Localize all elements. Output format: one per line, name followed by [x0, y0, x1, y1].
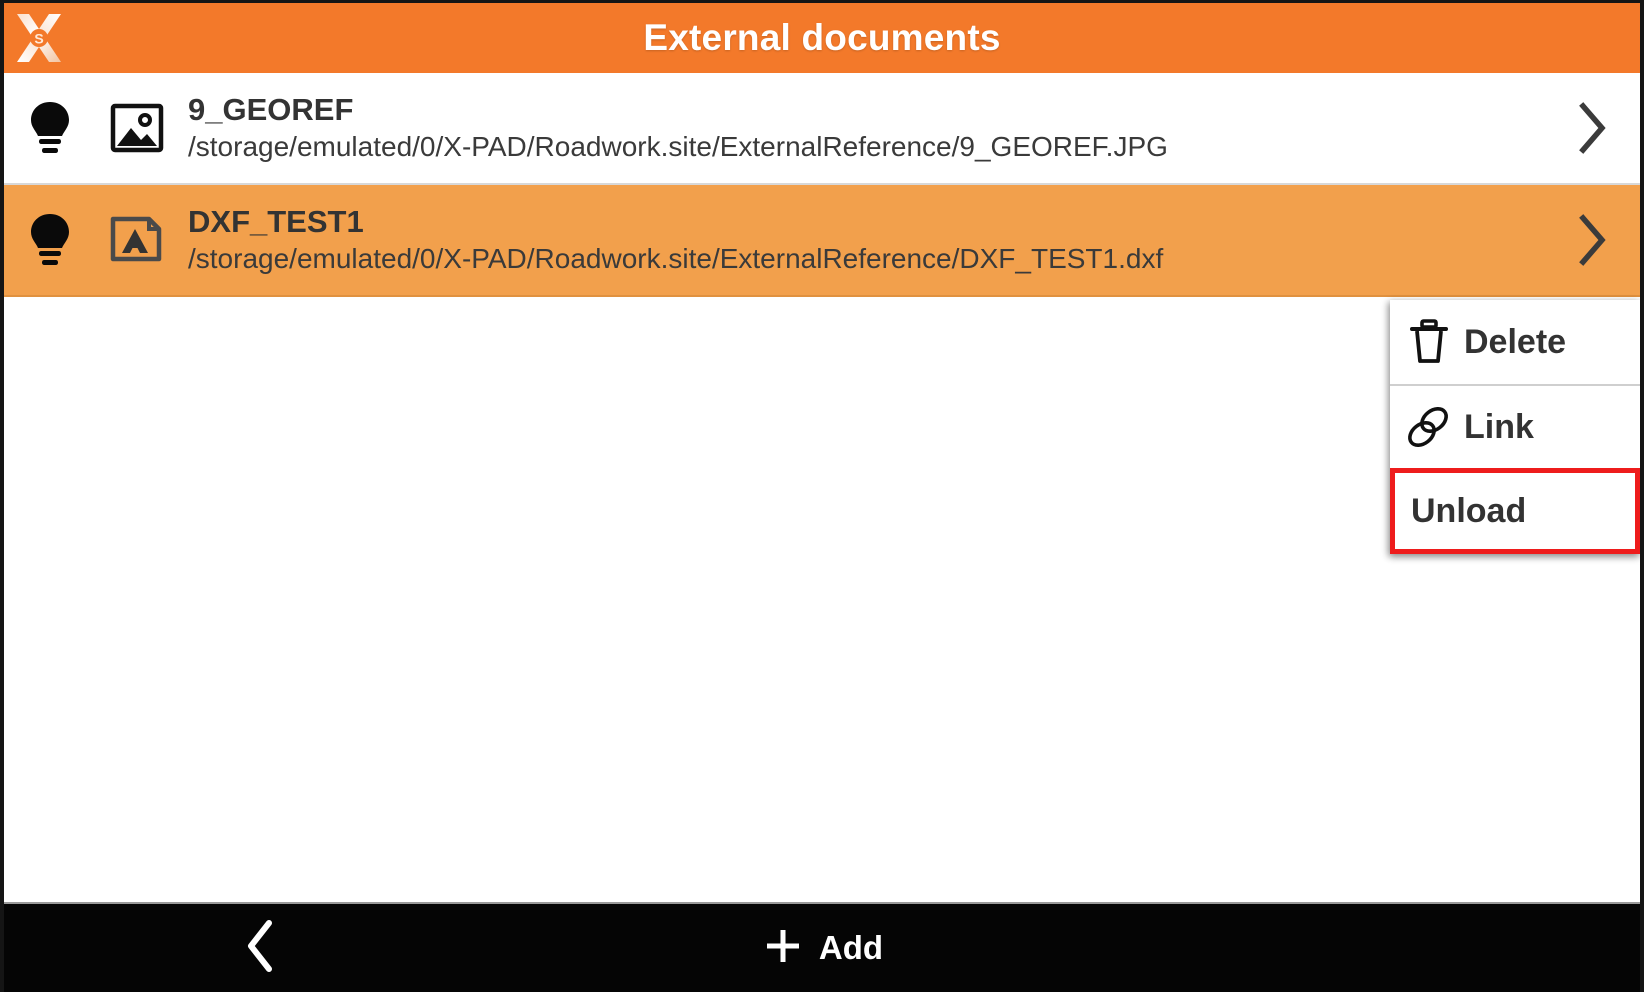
- row-text: DXF_TEST1 /storage/emulated/0/X-PAD/Road…: [178, 205, 1544, 275]
- trash-icon: [1400, 317, 1458, 367]
- add-button-label: Add: [819, 929, 883, 967]
- document-name: DXF_TEST1: [188, 205, 1530, 240]
- document-name: 9_GEOREF: [188, 93, 1530, 128]
- back-button[interactable]: [217, 903, 303, 992]
- menu-item-label: Delete: [1458, 323, 1566, 362]
- chevron-left-icon: [240, 917, 280, 980]
- link-chain-icon: [1400, 404, 1458, 450]
- bottom-navigation-bar: Add: [4, 902, 1640, 992]
- chevron-right-icon[interactable]: [1544, 212, 1640, 268]
- document-path: /storage/emulated/0/X-PAD/Roadwork.site/…: [188, 130, 1530, 163]
- page-title: External documents: [4, 17, 1640, 59]
- dxf-file-icon: [96, 213, 178, 267]
- menu-item-label: Unload: [1405, 492, 1526, 531]
- context-menu: Delete Link Unload: [1390, 300, 1640, 554]
- lightbulb-icon[interactable]: [4, 212, 96, 268]
- menu-item-delete[interactable]: Delete: [1390, 300, 1640, 384]
- menu-item-unload[interactable]: Unload: [1390, 468, 1640, 554]
- table-row[interactable]: 9_GEOREF /storage/emulated/0/X-PAD/Roadw…: [4, 73, 1640, 185]
- xpad-x-logo-icon[interactable]: S: [8, 7, 70, 69]
- row-text: 9_GEOREF /storage/emulated/0/X-PAD/Roadw…: [178, 93, 1544, 163]
- document-path: /storage/emulated/0/X-PAD/Roadwork.site/…: [188, 242, 1530, 275]
- app-header: S External documents: [4, 3, 1640, 73]
- chevron-right-icon[interactable]: [1544, 100, 1640, 156]
- table-row[interactable]: DXF_TEST1 /storage/emulated/0/X-PAD/Road…: [4, 185, 1640, 297]
- app-screen: S External documents: [0, 0, 1644, 992]
- add-button[interactable]: Add: [707, 903, 937, 992]
- menu-item-label: Link: [1458, 408, 1534, 447]
- plus-icon: [761, 924, 805, 973]
- svg-text:S: S: [34, 31, 43, 47]
- image-file-icon: [96, 101, 178, 155]
- lightbulb-icon[interactable]: [4, 100, 96, 156]
- menu-item-link[interactable]: Link: [1390, 384, 1640, 468]
